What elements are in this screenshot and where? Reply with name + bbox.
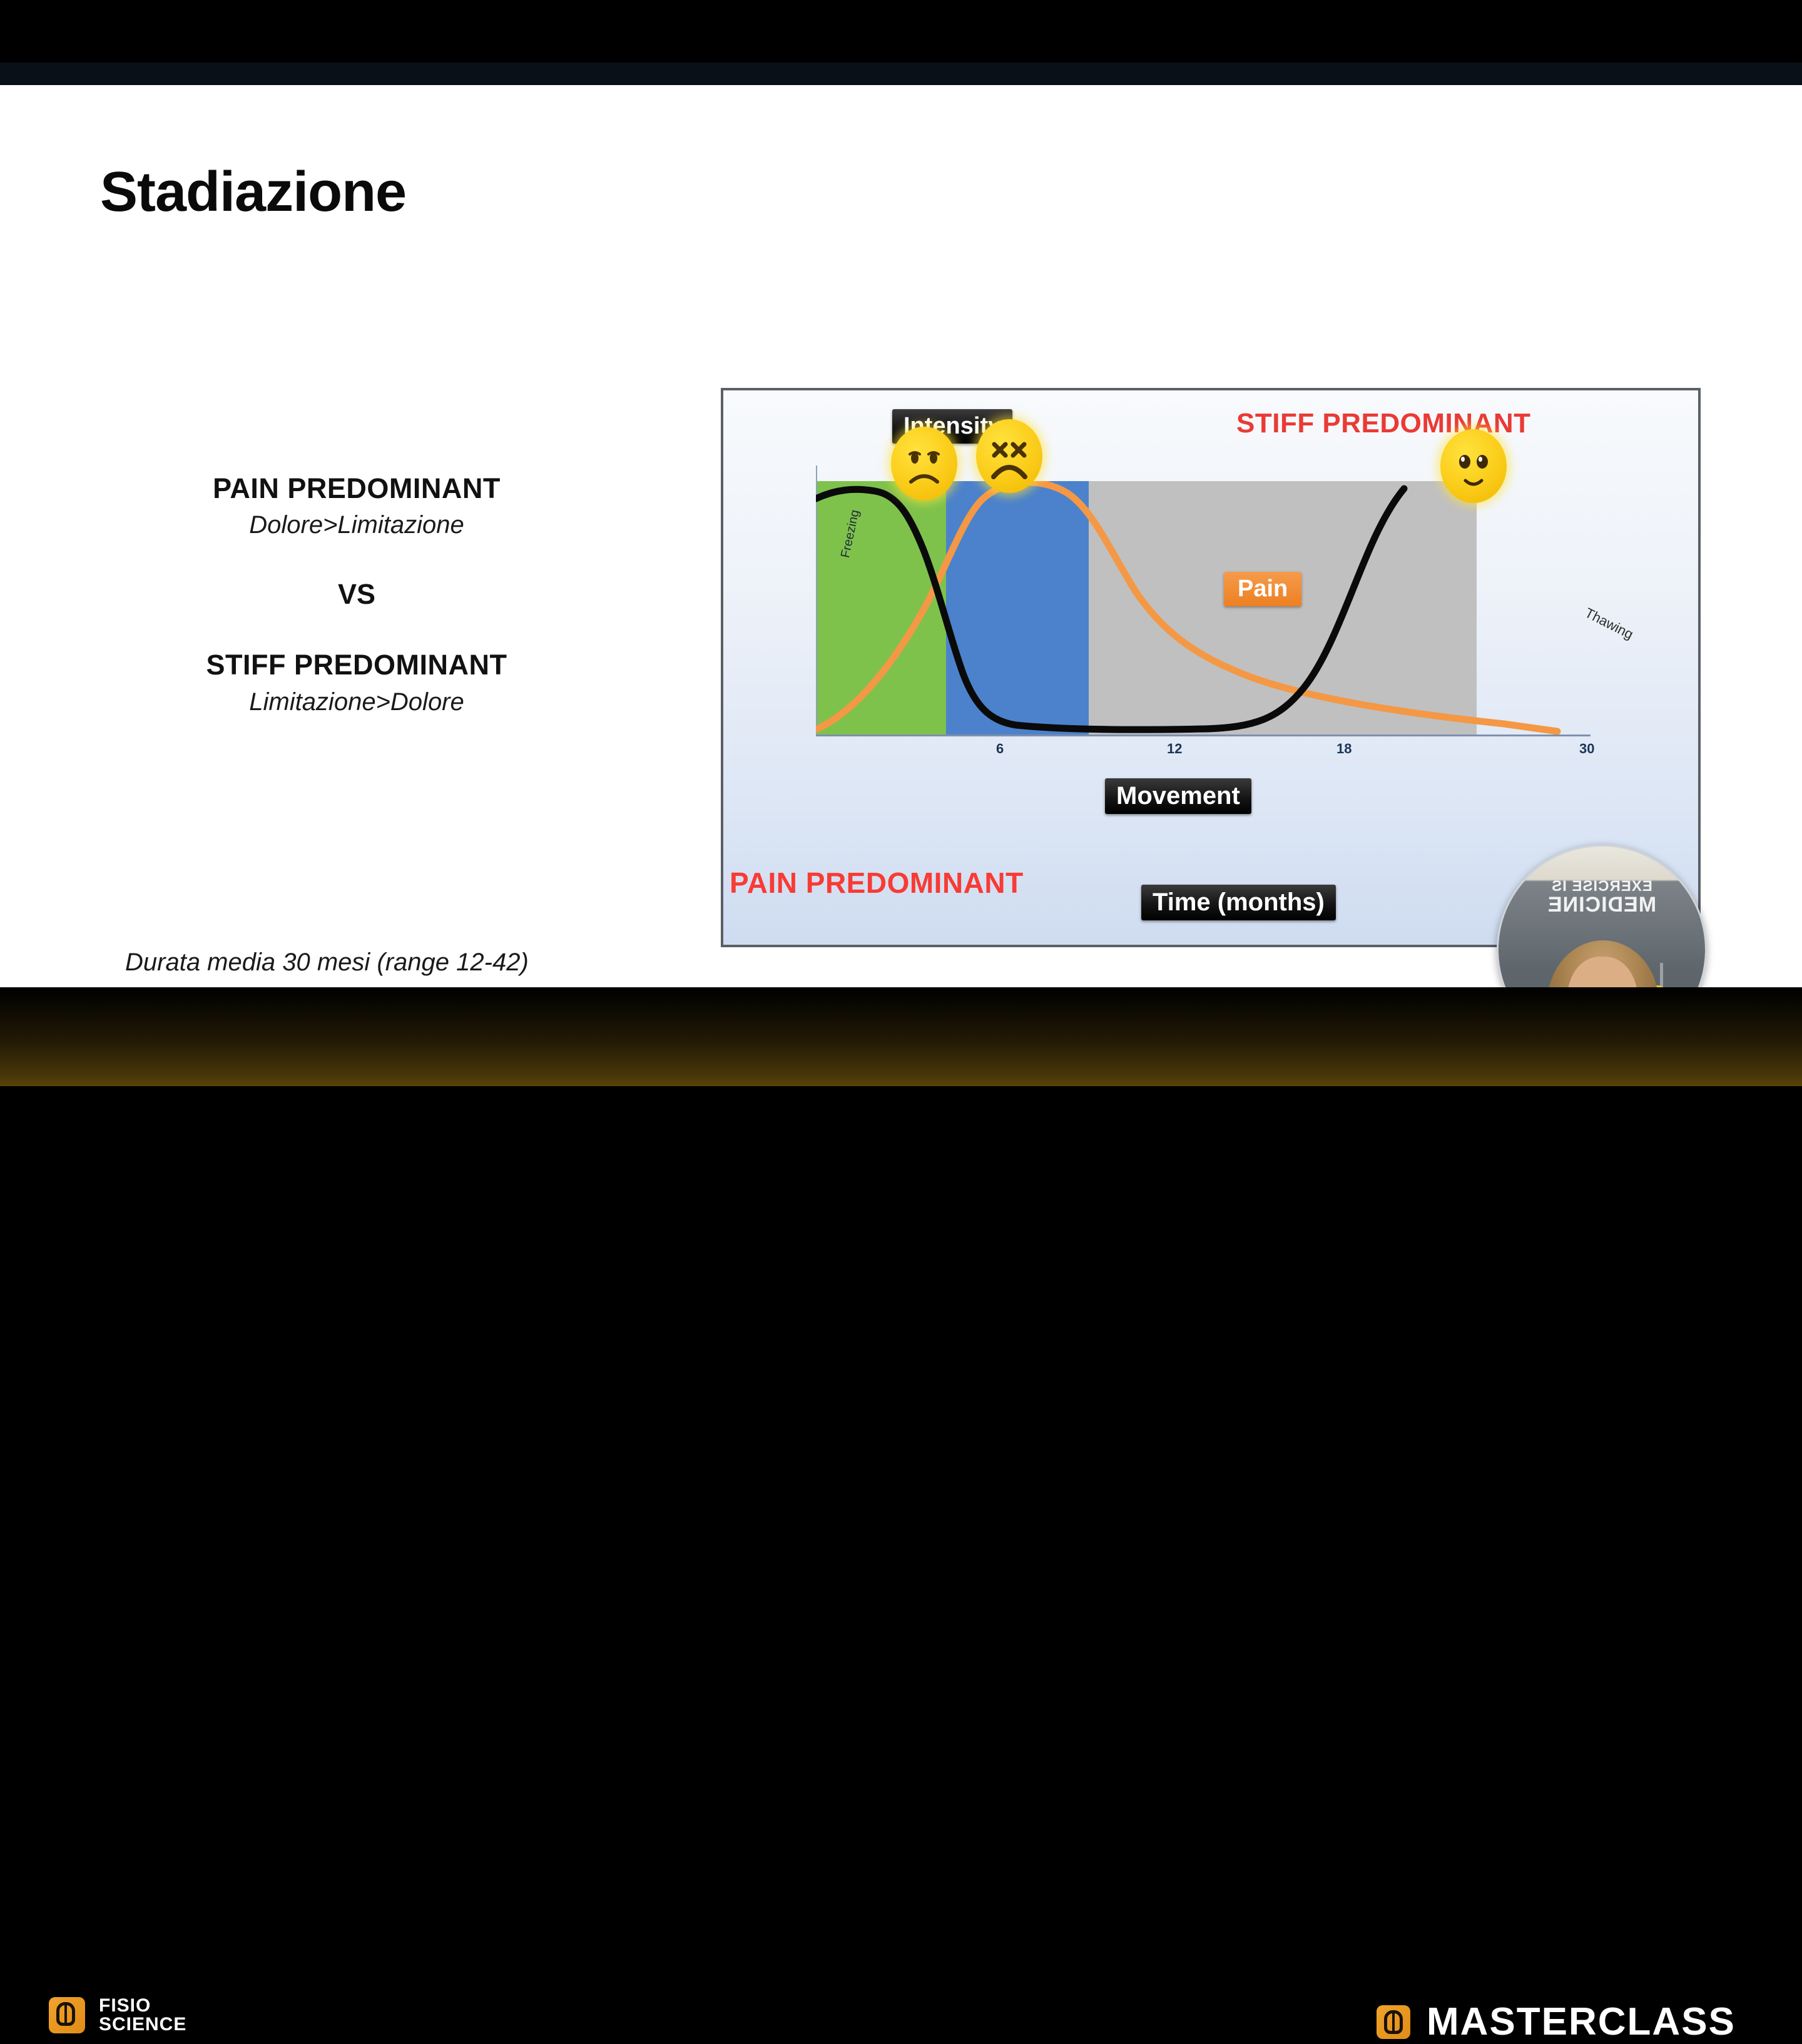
wall-sign-line1: EXERCISE IS	[1499, 879, 1705, 894]
brain-logo-icon-right	[1377, 2005, 1410, 2039]
screen: Stadiazione PAIN PREDOMINANT Dolore>Limi…	[0, 0, 1802, 1126]
masterclass-wordmark: MASTERCLASS	[1427, 2000, 1736, 2044]
very-sad-face-icon	[976, 419, 1042, 493]
xtick-18: 18	[1336, 741, 1351, 757]
xtick-12: 12	[1167, 741, 1182, 757]
vs-label: VS	[106, 578, 607, 611]
time-axis-badge: Time (months)	[1141, 885, 1336, 920]
stiff-predominant-heading: STIFF PREDOMINANT	[106, 649, 607, 681]
movement-series-badge: Movement	[1105, 778, 1251, 814]
brand-line-1: FISIO	[99, 1996, 186, 2015]
top-navy-strip	[0, 63, 1802, 85]
overlay-pain-predominant: PAIN PREDOMINANT	[730, 866, 1024, 900]
pain-series-badge: Pain	[1224, 572, 1301, 606]
top-letterbox-bar	[0, 0, 1802, 63]
page-title: Stadiazione	[100, 160, 406, 225]
left-text-column: PAIN PREDOMINANT Dolore>Limitazione VS S…	[106, 473, 607, 716]
stiff-predominant-subtitle: Limitazione>Dolore	[106, 688, 607, 716]
pain-predominant-heading: PAIN PREDOMINANT	[106, 473, 607, 504]
xtick-30: 30	[1579, 741, 1594, 757]
fisioscience-wordmark: FISIO SCIENCE	[99, 1996, 186, 2034]
xtick-6: 6	[996, 741, 1004, 757]
sad-face-icon	[891, 427, 957, 501]
brain-logo-icon	[49, 1997, 85, 2033]
wall-sign-text: EXERCISE IS MEDICINE	[1499, 879, 1705, 916]
band-label-thawing: Thawing	[1582, 605, 1636, 643]
x-axis-line	[816, 735, 1591, 736]
masterclass-logo: MASTERCLASS	[1377, 2000, 1736, 2044]
pain-curve	[816, 482, 1557, 731]
chart-curves	[816, 481, 1589, 735]
footer-bar: FISIO SCIENCE MASTERCLASS	[0, 987, 1802, 1086]
fisioscience-logo: FISIO SCIENCE	[49, 1996, 186, 2034]
duration-footnote: Durata media 30 mesi (range 12-42)	[125, 948, 529, 977]
pain-predominant-subtitle: Dolore>Limitazione	[106, 511, 607, 539]
wall-sign-line2: MEDICINE	[1499, 894, 1705, 916]
happy-face-icon	[1440, 429, 1507, 503]
bottom-letterbox-bar	[0, 1086, 1802, 1126]
brand-line-2: SCIENCE	[99, 2015, 186, 2034]
